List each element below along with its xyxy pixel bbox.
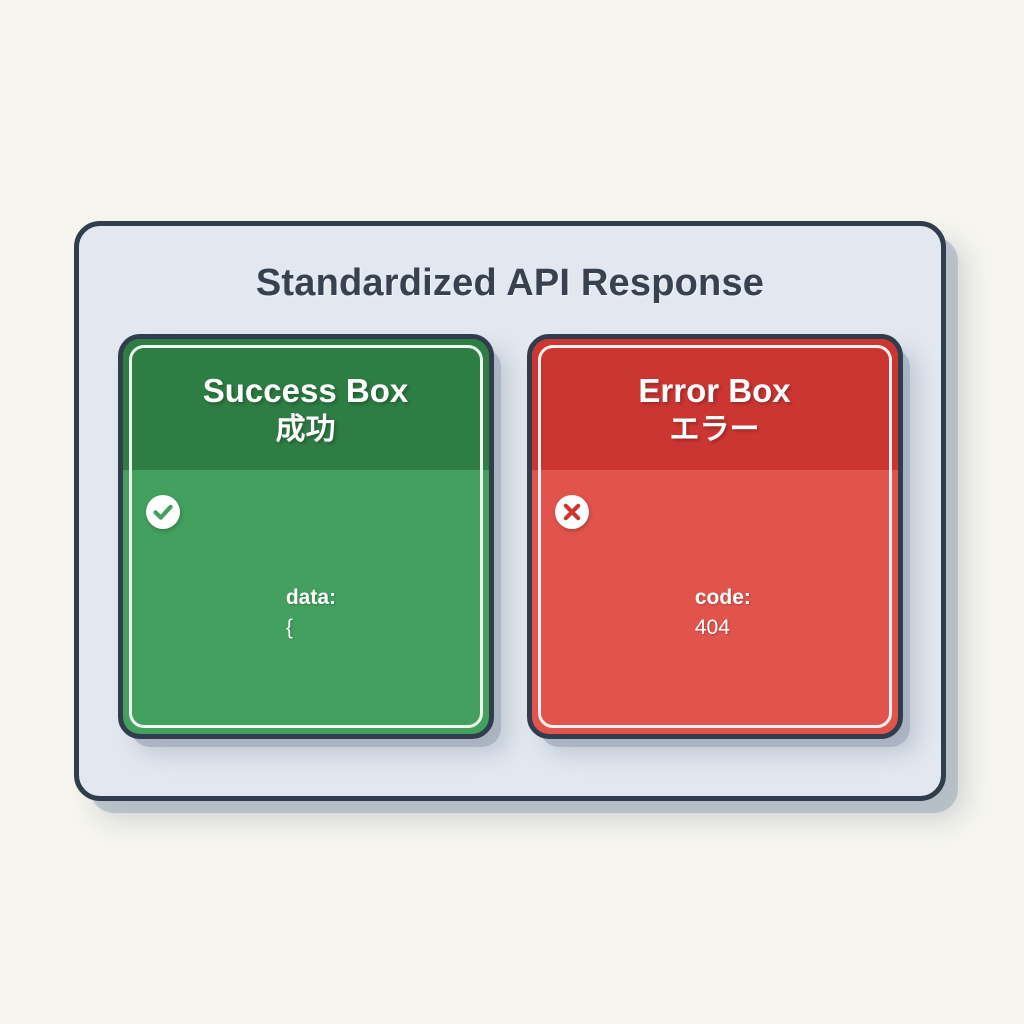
code-line: code: 404	[602, 552, 801, 673]
success-card-title: Success Box	[137, 373, 475, 410]
response-cards-row: Success Box 成功 data: {	[79, 334, 941, 754]
error-card-header: Error Box エラー	[532, 339, 898, 470]
code-line: id: 123,	[193, 734, 394, 739]
error-card-title: Error Box	[546, 373, 884, 410]
error-card-subtitle: エラー	[546, 412, 884, 448]
success-status-row: data: { id: 123, name: 'sample',	[145, 492, 467, 739]
success-card-body: data: { id: 123, name: 'sample',	[123, 470, 489, 739]
error-status-row: code: 404 message: 'Not Found'	[554, 492, 876, 739]
success-card-subtitle: 成功	[137, 412, 475, 448]
code-key: data:	[286, 586, 336, 609]
code-line: message: 'Not Found'	[602, 734, 801, 739]
api-response-panel: Standardized API Response Success Box 成功	[74, 221, 946, 801]
check-circle-icon	[145, 494, 181, 530]
error-code-block: code: 404 message: 'Not Found'	[602, 492, 801, 739]
screenshot-stage: Standardized API Response Success Box 成功	[0, 0, 1024, 1024]
page-title: Standardized API Response	[79, 262, 941, 305]
error-card-body: code: 404 message: 'Not Found' Error Det…	[532, 470, 898, 739]
code-key: code:	[695, 586, 751, 609]
code-value: {	[286, 616, 293, 639]
success-code-block: data: { id: 123, name: 'sample',	[193, 492, 394, 739]
code-line: data: {	[193, 552, 394, 673]
code-value: 404	[695, 616, 730, 639]
x-circle-icon	[554, 494, 590, 530]
success-box-card[interactable]: Success Box 成功 data: {	[118, 334, 494, 739]
success-card-header: Success Box 成功	[123, 339, 489, 470]
error-box-card[interactable]: Error Box エラー code: 404	[527, 334, 903, 739]
